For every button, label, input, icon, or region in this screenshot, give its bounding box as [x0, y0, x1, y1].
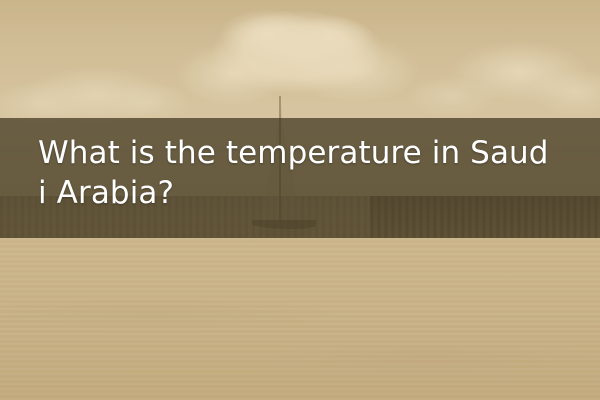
water-ripples — [0, 238, 600, 400]
caption-overlay-band: What is the temperature in Saud i Arabia… — [0, 118, 600, 238]
image-canvas: What is the temperature in Saud i Arabia… — [0, 0, 600, 400]
caption-question-text: What is the temperature in Saud i Arabia… — [0, 118, 553, 213]
